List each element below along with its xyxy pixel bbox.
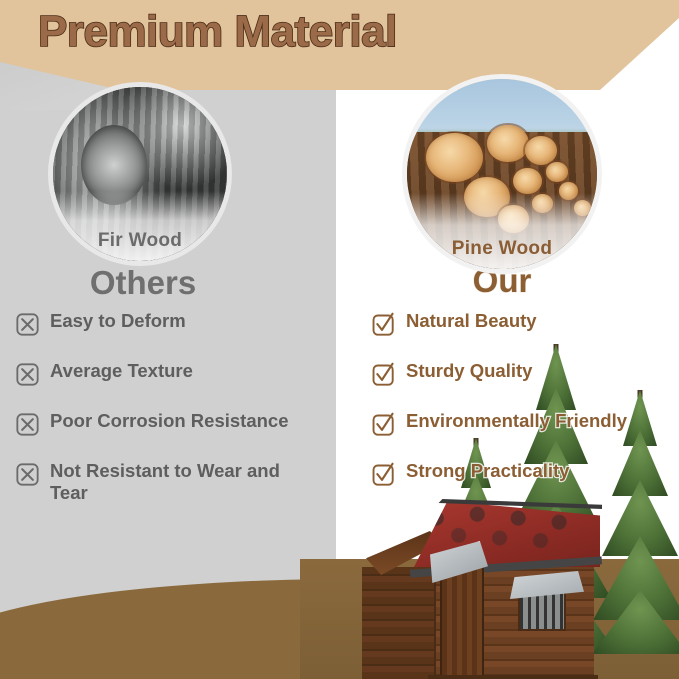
check-box-icon (372, 413, 395, 436)
check-box-icon (372, 463, 395, 486)
list-item: Sturdy Quality (372, 360, 672, 386)
list-item-label: Poor Corrosion Resistance (50, 410, 289, 432)
check-box-icon (372, 363, 395, 386)
list-item-label: Strong Practicality (406, 460, 569, 482)
list-item: Average Texture (16, 360, 336, 386)
page-title: Premium Material (38, 7, 397, 57)
list-item: Easy to Deform (16, 310, 336, 336)
list-item-label: Natural Beauty (406, 310, 537, 332)
others-list: Easy to Deform Average Texture Poor Corr… (16, 310, 336, 504)
fir-wood-caption: Fir Wood (98, 230, 182, 252)
x-box-icon (16, 413, 39, 436)
x-box-icon (16, 363, 39, 386)
pine-wood-caption: Pine Wood (452, 238, 553, 260)
list-item-label: Average Texture (50, 360, 193, 382)
comparison-infographic: Premium Material Fir Wood Pine Wood (0, 0, 679, 679)
list-item: Natural Beauty (372, 310, 672, 336)
list-item: Poor Corrosion Resistance (16, 410, 336, 436)
wooden-dog-house-photo (356, 497, 594, 679)
x-box-icon (16, 313, 39, 336)
fir-wood-caption-band: Fir Wood (53, 191, 227, 261)
list-item-label: Not Resistant to Wear and Tear (50, 460, 292, 504)
our-list: Natural Beauty Sturdy Quality Environmen… (372, 310, 672, 486)
list-item: Not Resistant to Wear and Tear (16, 460, 336, 504)
list-item: Environmentally Friendly (372, 410, 672, 436)
fir-wood-circle: Fir Wood (48, 82, 232, 266)
list-item-label: Environmentally Friendly (406, 410, 627, 432)
x-box-icon (16, 463, 39, 486)
list-item: Strong Practicality (372, 460, 672, 486)
pine-wood-caption-band: Pine Wood (407, 193, 597, 269)
list-item-label: Sturdy Quality (406, 360, 532, 382)
list-item-label: Easy to Deform (50, 310, 186, 332)
check-box-icon (372, 313, 395, 336)
pine-wood-circle: Pine Wood (402, 74, 602, 274)
others-heading: Others (0, 264, 286, 302)
